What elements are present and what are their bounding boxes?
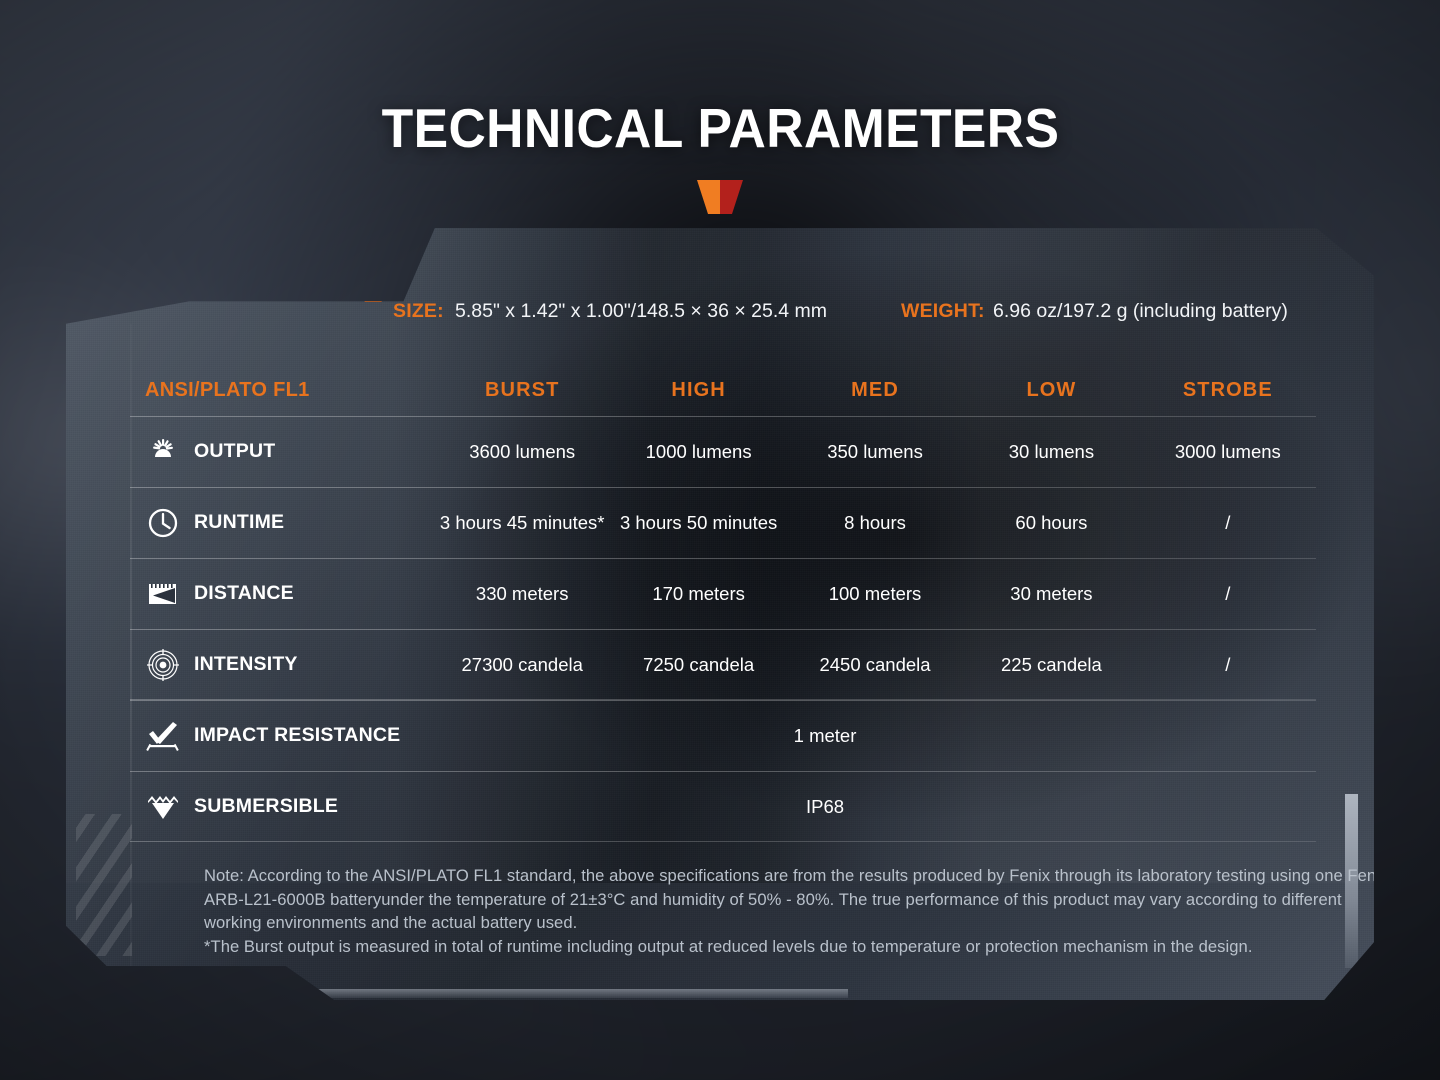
row-label-text: RUNTIME [194, 511, 284, 534]
footnote-line-1: Note: According to the ANSI/PLATO FL1 st… [204, 864, 1374, 935]
table-row: SUBMERSIBLE IP68 [130, 771, 1316, 842]
clock-icon [145, 505, 181, 541]
cell-runtime-low: 60 hours [963, 512, 1139, 534]
parameters-table: ANSI/PLATO FL1 BURST HIGH MED LOW STROBE [130, 364, 1316, 842]
cell-distance-burst: 330 meters [434, 583, 610, 605]
cell-output-high: 1000 lumens [610, 441, 786, 463]
footnote-line-2: *The Burst output is measured in total o… [204, 935, 1374, 959]
row-label-text: OUTPUT [194, 440, 275, 463]
header-cell-burst: BURST [434, 379, 610, 402]
chevron-divider-wrap [0, 180, 1440, 214]
row-label-runtime: RUNTIME [130, 505, 434, 541]
table-row: INTENSITY 27300 candela 7250 candela 245… [130, 629, 1316, 700]
row-label-impact: IMPACT RESISTANCE [130, 718, 434, 754]
weight-label: WEIGHT: [901, 300, 985, 323]
impact-icon [145, 718, 181, 754]
cell-intensity-burst: 27300 candela [434, 654, 610, 676]
cell-distance-low: 30 meters [963, 583, 1139, 605]
header-cell-med: MED [787, 379, 963, 402]
header-cell-strobe: STROBE [1140, 379, 1316, 402]
table-row: DISTANCE 330 meters 170 meters 100 meter… [130, 558, 1316, 629]
footnote: Note: According to the ANSI/PLATO FL1 st… [204, 864, 1374, 958]
cell-intensity-med: 2450 candela [787, 654, 963, 676]
page-title-wrap: TECHNICAL PARAMETERS [0, 96, 1440, 160]
cell-runtime-high: 3 hours 50 minutes [610, 512, 786, 534]
row-label-text: SUBMERSIBLE [194, 795, 338, 818]
table-header-row: ANSI/PLATO FL1 BURST HIGH MED LOW STROBE [130, 364, 1316, 416]
header-label-ansi: ANSI/PLATO FL1 [145, 379, 310, 402]
page-title: TECHNICAL PARAMETERS [381, 96, 1059, 160]
row-label-output: OUTPUT [130, 434, 434, 470]
cell-distance-strobe: / [1140, 583, 1316, 605]
table-row: IMPACT RESISTANCE 1 meter [130, 700, 1316, 771]
corner-hash-stripes [76, 814, 132, 956]
cell-distance-med: 100 meters [787, 583, 963, 605]
cell-impact-value: 1 meter [434, 725, 1316, 747]
weight-value: 6.96 oz/197.2 g (including battery) [993, 300, 1288, 323]
chevron-down-icon [697, 180, 743, 214]
cell-intensity-strobe: / [1140, 654, 1316, 676]
row-label-distance: DISTANCE [130, 576, 434, 612]
row-label-submersible: SUBMERSIBLE [130, 789, 434, 825]
cell-runtime-strobe: / [1140, 512, 1316, 534]
target-icon [145, 647, 181, 683]
row-label-text: IMPACT RESISTANCE [194, 724, 400, 747]
cell-intensity-low: 225 candela [963, 654, 1139, 676]
cell-distance-high: 170 meters [610, 583, 786, 605]
cell-runtime-med: 8 hours [787, 512, 963, 534]
cell-intensity-high: 7250 candela [610, 654, 786, 676]
cell-output-low: 30 lumens [963, 441, 1139, 463]
size-value: 5.85" x 1.42" x 1.00"/148.5 × 36 × 25.4 … [455, 300, 827, 323]
cell-output-med: 350 lumens [787, 441, 963, 463]
spec-panel: SIZE: 5.85" x 1.42" x 1.00"/148.5 × 36 ×… [66, 228, 1374, 1000]
spec-sheet-page: TECHNICAL PARAMETERS SIZE: 5.85" x 1.42"… [0, 0, 1440, 1080]
table-row: RUNTIME 3 hours 45 minutes* 3 hours 50 m… [130, 487, 1316, 558]
cell-runtime-burst: 3 hours 45 minutes* [434, 512, 610, 534]
sunburst-icon [145, 434, 181, 470]
header-cell-ansi: ANSI/PLATO FL1 [130, 379, 434, 402]
row-label-intensity: INTENSITY [130, 647, 434, 683]
ruler-beam-icon [145, 576, 181, 612]
cell-output-strobe: 3000 lumens [1140, 441, 1316, 463]
header-cell-high: HIGH [610, 379, 786, 402]
table-row: OUTPUT 3600 lumens 1000 lumens 350 lumen… [130, 416, 1316, 487]
cell-output-burst: 3600 lumens [434, 441, 610, 463]
row-label-text: DISTANCE [194, 582, 294, 605]
header-cell-low: LOW [963, 379, 1139, 402]
cell-submersible-value: IP68 [434, 796, 1316, 818]
size-label: SIZE: [393, 300, 444, 323]
water-drop-icon [145, 789, 181, 825]
row-label-text: INTENSITY [194, 653, 298, 676]
